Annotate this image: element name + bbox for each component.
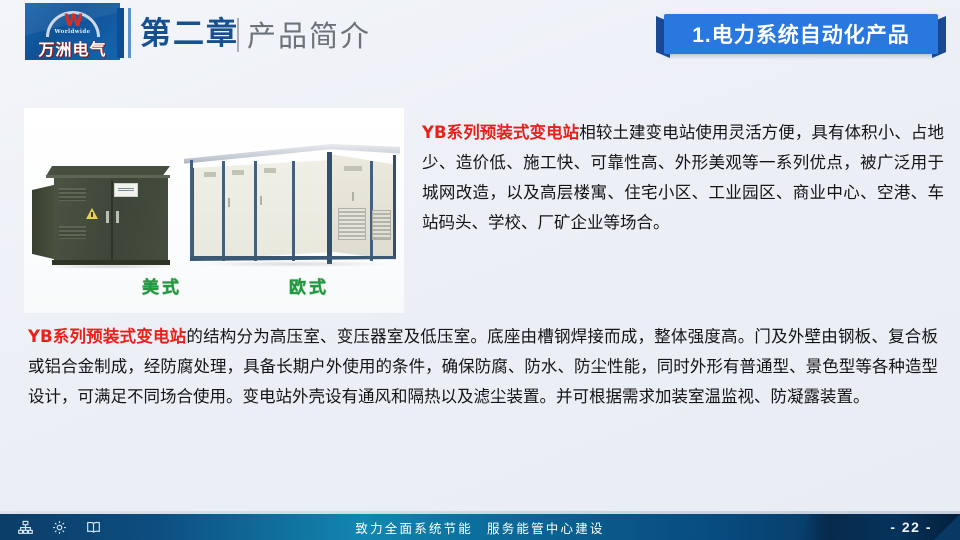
title-separator [237,18,239,52]
eu-handle-2 [260,196,262,205]
eu-handle-3 [352,192,354,201]
european-substation-illustration [184,130,400,280]
eu-pillar-2 [254,161,257,261]
eu-pillar-1 [222,161,225,261]
slide-canvas: W Worldwide 万洲电气 第二章 产品简介 1.电力系统自动化产品 [0,0,960,540]
caption-american: 美式 [142,273,182,298]
footer-slogan-right: 服务能管中心建设 [487,518,605,537]
american-substation-illustration [32,166,172,271]
banner-body: 1.电力系统自动化产品 [664,14,938,54]
eu-pillar-3 [292,161,295,261]
us-nameplate [114,183,138,197]
paragraph-bottom: YB系列预装式变电站的结构分为高压室、变压器室及低压室。底座由槽钢焊接而成，整体… [28,322,938,412]
banner-label: 1.电力系统自动化产品 [692,19,910,49]
chapter-label: 第二章 [140,14,239,54]
logo-letter-w: W [46,11,100,31]
page-number: - 22 - [890,514,932,540]
page-number-tab [800,514,960,540]
logo-arc-shape: W [46,9,100,31]
us-vent-lower [59,226,86,239]
slide-footer: 致力全面系统节能 服务能管中心建设 - 22 - [0,514,960,540]
eu-corner-post [327,152,332,264]
product-photo: 美式 欧式 [24,108,404,313]
eu-edge-left [190,160,193,260]
page-title: 产品简介 [247,17,371,57]
caption-european: 欧式 [289,273,329,298]
eu-handle-1 [228,198,230,207]
slide-header: W Worldwide 万洲电气 第二章 产品简介 1.电力系统自动化产品 [0,0,960,82]
eu-edge-right [393,155,396,259]
header-divider-thin [128,8,131,58]
paragraph-right-highlight: YB系列预装式变电站 [422,123,579,142]
eu-ground-shadow [194,261,394,267]
us-door-handle-right [116,211,119,223]
section-banner: 1.电力系统自动化产品 [656,14,946,58]
company-logo: W Worldwide 万洲电气 [25,3,120,60]
eu-nameplate-2 [232,170,244,175]
eu-nameplate-3 [264,168,276,173]
us-door-split [111,180,113,262]
header-divider-thick [117,8,124,58]
logo-english-name: Worldwide [25,29,120,35]
eu-nameplate-1 [204,172,216,177]
paragraph-bottom-highlight: YB系列预装式变电站 [28,327,186,346]
eu-side-face [330,154,396,260]
us-vent-upper [59,188,86,201]
logo-chinese-name: 万洲电气 [25,36,120,60]
us-door-handle-left [106,211,109,223]
us-ground-shadow [42,264,178,269]
footer-slogan-left: 致力全面系统节能 [355,518,473,537]
warning-triangle-icon [86,208,98,219]
paragraph-right: YB系列预装式变电站相较土建变电站使用灵活方便，具有体积小、占地少、造价低、施工… [422,118,944,238]
eu-nameplate-4 [344,166,362,171]
eu-ventilation-louver-large [338,208,366,240]
eu-ventilation-louver-small [372,210,391,240]
